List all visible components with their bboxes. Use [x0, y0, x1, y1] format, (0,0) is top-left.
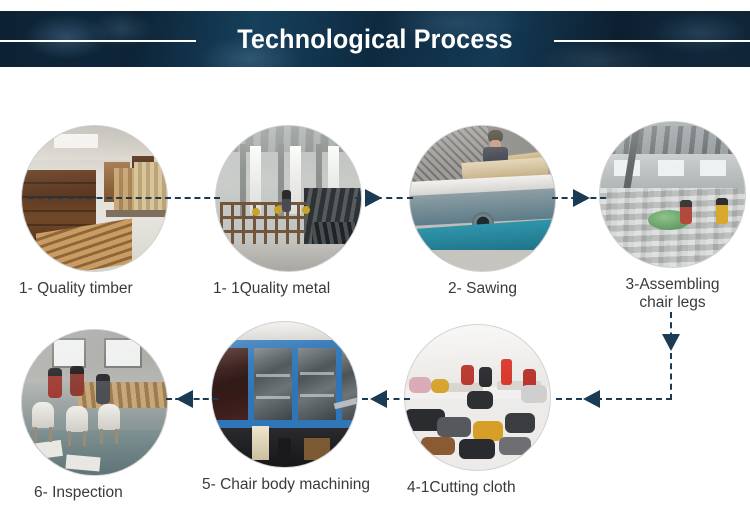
metal-warehouse-photo — [216, 126, 361, 271]
assembling-chair-legs-photo — [600, 122, 745, 267]
process-step-1[interactable]: 1- Quality timber — [22, 126, 179, 298]
process-step-4-caption: 3-Assembling chair legs — [600, 276, 745, 312]
process-step-7-caption: 6- Inspection — [34, 484, 194, 502]
arrow-left-icon-to-5 — [583, 390, 600, 408]
connector-down-to-5 — [556, 398, 672, 400]
process-step-6[interactable]: 5- Chair body machining — [212, 322, 412, 494]
arrow-right-icon-2-to-3 — [365, 189, 382, 207]
process-step-2[interactable]: 1- 1Quality metal — [216, 126, 383, 298]
connector-2-to-3 — [355, 197, 413, 199]
connector-4-down — [670, 312, 672, 400]
process-step-2-caption: 1- 1Quality metal — [213, 280, 383, 298]
header-banner: Technological Process — [0, 11, 750, 67]
process-step-5[interactable]: 4-1Cutting cloth — [405, 325, 567, 497]
sawing-machine-photo — [410, 126, 555, 271]
process-step-6-caption: 5- Chair body machining — [202, 476, 412, 494]
arrow-down-icon-4 — [662, 334, 680, 351]
chair-body-machining-photo — [212, 322, 357, 467]
arrow-right-icon-3-to-4 — [573, 189, 590, 207]
inspection-photo — [22, 330, 167, 475]
process-step-1-caption: 1- Quality timber — [19, 280, 179, 298]
process-step-4[interactable]: 3-Assembling chair legs — [600, 122, 745, 312]
arrow-left-icon-6-to-7 — [176, 390, 193, 408]
arrow-left-icon-5-to-6 — [370, 390, 387, 408]
process-step-3[interactable]: 2- Sawing — [410, 126, 555, 298]
process-step-7[interactable]: 6- Inspection — [22, 330, 194, 502]
process-step-3-caption: 2- Sawing — [410, 280, 555, 298]
cutting-cloth-photo — [405, 325, 550, 470]
connector-1-to-2 — [28, 197, 220, 199]
process-step-5-caption: 4-1Cutting cloth — [407, 479, 567, 497]
page-title: Technological Process — [26, 11, 724, 67]
